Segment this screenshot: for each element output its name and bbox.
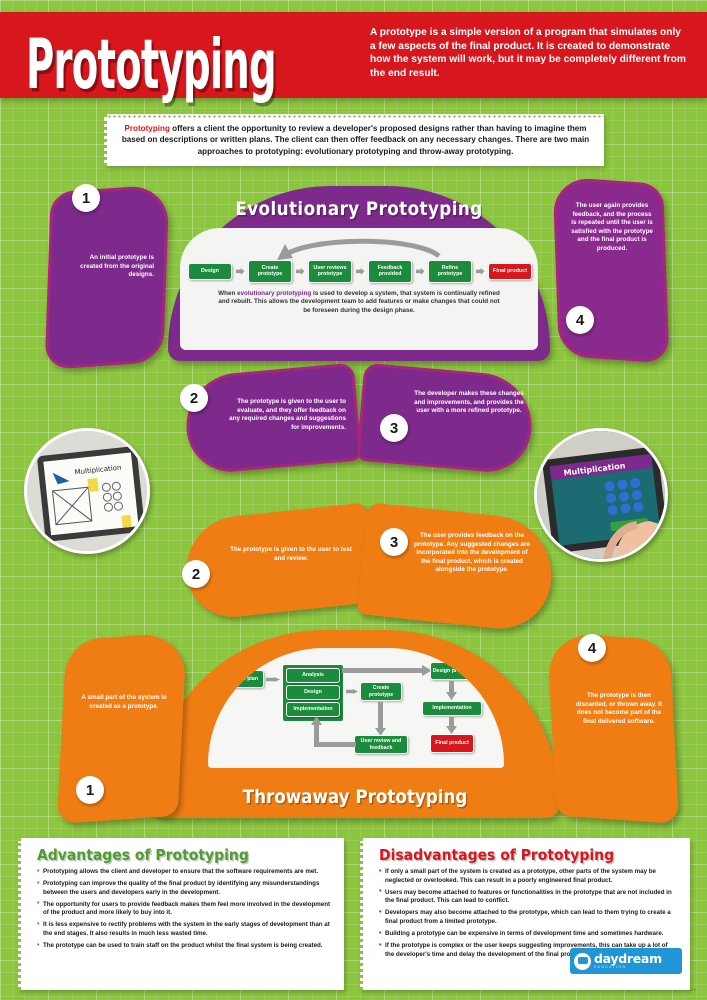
list-item: The prototype can be used to train staff… xyxy=(37,942,332,951)
throwaway-step-1: 1 A small part of the system is created … xyxy=(62,636,182,820)
poster-header: Prototyping A prototype is a simple vers… xyxy=(0,12,707,98)
flow-box-final-product: Final product xyxy=(488,263,532,279)
evolutionary-step-4: 4 The user again provides feedback, and … xyxy=(556,180,666,360)
flow-box-design-product: Design product xyxy=(430,662,474,680)
arrow-line xyxy=(449,717,454,727)
step-number-badge: 1 xyxy=(76,776,104,804)
arrow-line xyxy=(378,702,383,730)
arrow-right-icon xyxy=(296,268,305,275)
step-text: The user again provides feedback, and th… xyxy=(570,202,654,254)
step-text: The prototype is then discarded, or thro… xyxy=(572,692,666,726)
intro-paragraph: Prototyping offers a client the opportun… xyxy=(121,123,590,157)
flow-box-refine-prototype: Refine prototype xyxy=(428,260,472,283)
advantages-title: Advantages of Prototyping xyxy=(37,846,303,864)
step-number-badge: 4 xyxy=(578,634,606,662)
intro-box: Prototyping offers a client the opportun… xyxy=(104,114,604,166)
throwaway-step-3: 3 The user provides feedback on the prot… xyxy=(362,512,552,624)
flow-box-design: Design xyxy=(286,685,340,700)
step-text: The developer makes these changes and im… xyxy=(414,390,524,416)
header-subtitle: A prototype is a simple version of a pro… xyxy=(370,26,688,80)
step-text: A small part of the system is created as… xyxy=(78,694,170,711)
flow-box-implementation-2: Implementation xyxy=(422,701,482,716)
arrow-line xyxy=(314,742,356,747)
step-text: The prototype is given to the user to ev… xyxy=(228,398,346,432)
evolutionary-step-3: 3 The developer makes these changes and … xyxy=(360,370,532,468)
flow-box-create-prototype: Create prototype xyxy=(248,260,292,283)
throwaway-section-title: Throwaway Prototyping xyxy=(175,786,536,808)
note-prefix: When xyxy=(218,290,237,297)
disadvantages-box: Disadvantages of Prototyping If only a s… xyxy=(360,838,690,990)
list-item: Developers may also become attached to t… xyxy=(379,909,678,926)
daydream-logo: daydream EDUCATION xyxy=(570,948,682,974)
step-number-badge: 3 xyxy=(380,528,408,556)
step-number-badge: 4 xyxy=(566,306,594,334)
flow-box-implementation: Implementation xyxy=(286,702,340,717)
list-item: If only a small part of the system is cr… xyxy=(379,868,678,885)
photo-tablet-app: Multiplication xyxy=(534,428,668,562)
dotted-edge-decoration xyxy=(107,114,604,118)
arrow-right-icon xyxy=(266,677,280,682)
arrow-right-icon xyxy=(476,268,485,275)
arrow-right-icon xyxy=(236,268,245,275)
step-number-badge: 1 xyxy=(72,184,100,212)
evolutionary-step-1: 1 An initial prototype is created from t… xyxy=(48,188,166,366)
step-text: The prototype is given to the user to te… xyxy=(226,546,356,563)
feedback-loop-arrow-icon xyxy=(275,234,445,260)
logo-name: daydream xyxy=(594,953,662,965)
flow-box-initial-plan: Initial plan xyxy=(226,670,264,688)
evolutionary-step-2: 2 The prototype is given to the user to … xyxy=(186,370,358,468)
evolutionary-panel: Evolutionary Prototyping Design Create p… xyxy=(168,186,550,361)
flow-box-feedback-provided: Feedback provided xyxy=(368,260,412,283)
flow-box-user-reviews: User reviews prototype xyxy=(308,260,352,283)
list-item: Building a prototype can be expensive in… xyxy=(379,930,678,939)
arrow-right-icon xyxy=(346,689,358,694)
step-number-badge: 3 xyxy=(380,414,408,442)
disadvantages-list: If only a small part of the system is cr… xyxy=(379,868,678,959)
arrow-line xyxy=(449,681,454,693)
flow-box-analysis: Analysis xyxy=(286,668,340,683)
step-number-badge: 2 xyxy=(180,384,208,412)
photo-wireframe-sketch: Multiplication xyxy=(24,428,150,554)
flow-box-user-review: User review and feedback xyxy=(354,735,408,754)
step-text: The user provides feedback on the protot… xyxy=(414,532,530,575)
step-text: An initial prototype is created from the… xyxy=(70,254,154,280)
intro-keyword: Prototyping xyxy=(124,124,169,133)
evolutionary-diagram-area: Design Create prototype User reviews pro… xyxy=(180,228,538,350)
advantages-list: Prototyping allows the client and develo… xyxy=(37,868,332,951)
throwaway-step-4: 4 The prototype is then discarded, or th… xyxy=(552,636,674,820)
flow-box-create-prototype: Create prototype xyxy=(360,682,402,701)
arrow-right-icon xyxy=(416,268,425,275)
disadvantages-title: Disadvantages of Prototyping xyxy=(379,846,648,864)
arrow-right-icon xyxy=(356,268,365,275)
flow-box-design: Design xyxy=(188,263,232,279)
arrow-down-icon xyxy=(446,726,457,734)
evolutionary-flow-row: Design Create prototype User reviews pro… xyxy=(188,260,532,283)
evolutionary-section-title: Evolutionary Prototyping xyxy=(191,198,527,220)
speech-bubble-icon xyxy=(574,953,591,970)
list-item: Users may become attached to features or… xyxy=(379,889,678,906)
list-item: It is less expensive to rectify problems… xyxy=(37,921,332,938)
page-title: Prototyping xyxy=(26,24,276,104)
intro-text: offers a client the opportunity to revie… xyxy=(122,124,589,156)
throwaway-step-2: 2 The prototype is given to the user to … xyxy=(186,512,372,612)
flow-box-final-product: Final product xyxy=(430,734,474,753)
advantages-box: Advantages of Prototyping Prototyping al… xyxy=(18,838,344,990)
evolutionary-note: When evolutionary prototyping is used to… xyxy=(218,290,500,315)
arrow-down-icon xyxy=(446,692,457,700)
step-number-badge: 2 xyxy=(182,560,210,588)
list-item: Prototyping allows the client and develo… xyxy=(37,868,332,877)
note-keyword: evolutionary prototyping xyxy=(237,290,311,297)
list-item: Prototyping can improve the quality of t… xyxy=(37,880,332,897)
throwaway-diagram-area: Initial plan Analysis Design Implementat… xyxy=(208,648,504,768)
arrow-line xyxy=(314,724,319,747)
callout-shape xyxy=(547,632,679,824)
list-item: The opportunity for users to provide fee… xyxy=(37,901,332,918)
arrow-line xyxy=(342,668,426,673)
